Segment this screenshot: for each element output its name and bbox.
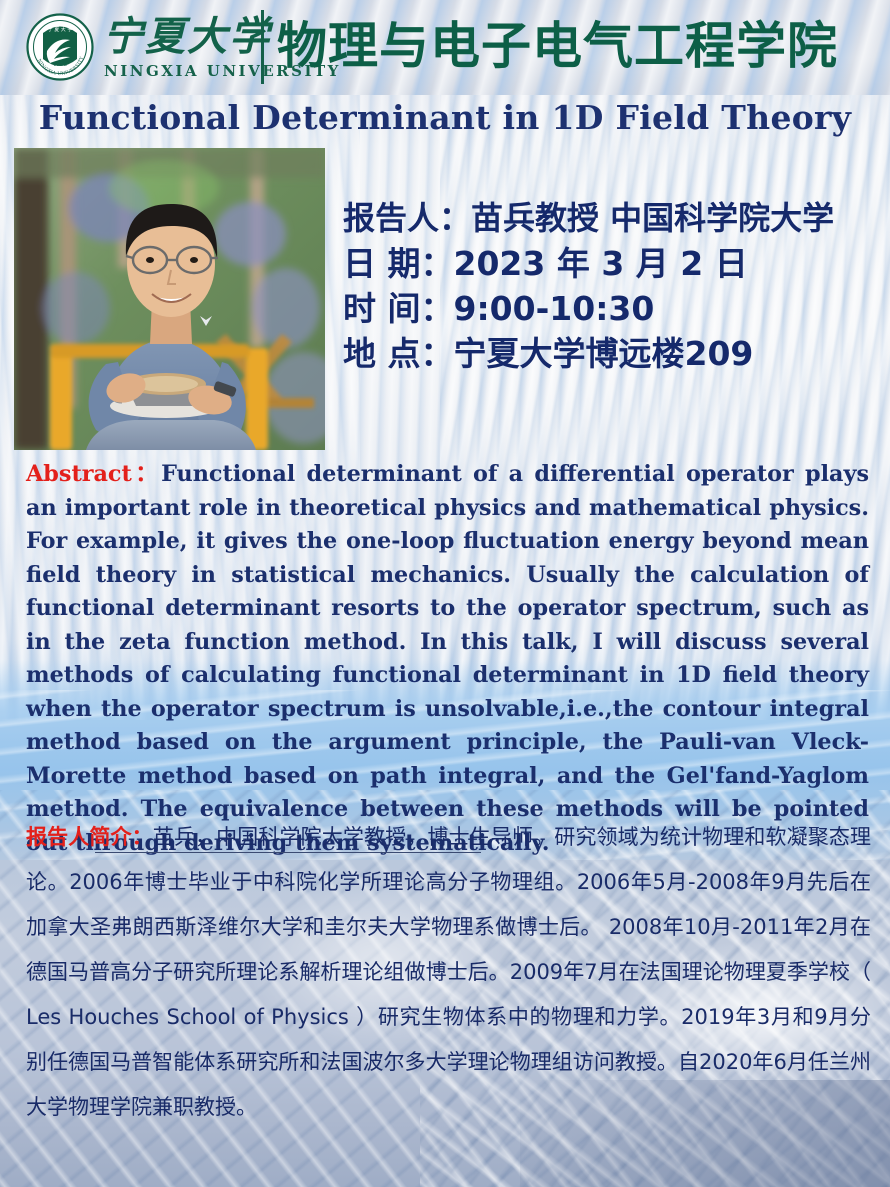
- svg-text:宁 夏 大 学: 宁 夏 大 学: [48, 26, 73, 33]
- bio-label: 报告人简介：: [26, 825, 153, 849]
- info-value-time: 9:00-10:30: [454, 286, 655, 331]
- university-seal-icon: 宁 夏 大 学 1958 NINGXIA UNIVERSITY: [26, 13, 94, 81]
- abstract-text: Functional determinant of a differential…: [26, 461, 869, 856]
- header-divider: [261, 10, 264, 84]
- abstract-section: Abstract：Functional determinant of a dif…: [26, 458, 869, 860]
- department-name: 物理与电子电气工程学院: [277, 9, 838, 83]
- speaker-photo: [14, 148, 325, 450]
- event-info-block: 报告人：苗兵教授 中国科学院大学 日 期：2023 年 3 月 2 日 时 间：…: [343, 196, 888, 376]
- info-label-venue: 地 点：: [343, 331, 454, 376]
- info-label-time: 时 间：: [343, 286, 454, 331]
- poster-title: Functional Determinant in 1D Field Theor…: [0, 98, 890, 137]
- bio-section: 报告人简介：苗兵，中国科学院大学教授，博士生导师。研究领域为统计物理和软凝聚态理…: [26, 815, 871, 1130]
- info-row-time: 时 间：9:00-10:30: [343, 286, 888, 331]
- info-row-speaker: 报告人：苗兵教授 中国科学院大学: [343, 196, 888, 241]
- header-banner: 宁 夏 大 学 1958 NINGXIA UNIVERSITY 宁夏大学 NIN…: [0, 0, 890, 95]
- bio-text: 苗兵，中国科学院大学教授，博士生导师。研究领域为统计物理和软凝聚态理论。2006…: [26, 825, 871, 1119]
- info-label-speaker: 报告人：: [343, 196, 471, 241]
- bio-underline: [95, 852, 481, 853]
- info-row-venue: 地 点：宁夏大学博远楼209: [343, 331, 888, 376]
- university-name-cn: 宁夏大学: [103, 14, 271, 60]
- svg-text:1958: 1958: [53, 62, 67, 68]
- info-value-date: 2023 年 3 月 2 日: [454, 241, 748, 286]
- poster-root: 宁 夏 大 学 1958 NINGXIA UNIVERSITY 宁夏大学 NIN…: [0, 0, 890, 1187]
- info-label-date: 日 期：: [343, 241, 454, 286]
- info-value-speaker: 苗兵教授 中国科学院大学: [471, 196, 834, 241]
- abstract-label: Abstract：: [26, 461, 161, 487]
- info-value-venue: 宁夏大学博远楼209: [454, 331, 754, 376]
- info-row-date: 日 期：2023 年 3 月 2 日: [343, 241, 888, 286]
